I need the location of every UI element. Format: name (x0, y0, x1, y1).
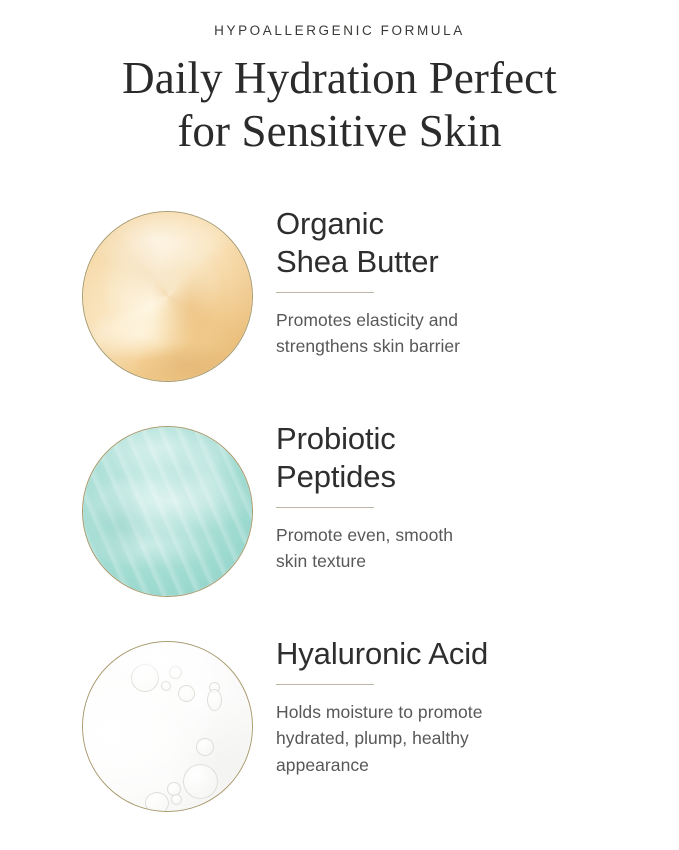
hyaluronic-swatch-wrapper (82, 641, 253, 812)
ingredient-desc-line-2: strengthens skin barrier (276, 333, 656, 360)
header: HYPOALLERGENIC FORMULA Daily Hydration P… (0, 24, 679, 158)
ingredient-desc-line-2: hydrated, plump, healthy (276, 725, 656, 752)
ingredient-desc-line-1: Holds moisture to promote (276, 699, 656, 726)
page-title: Daily Hydration Perfect for Sensitive Sk… (0, 52, 679, 158)
hyaluronic-text-block: Hyaluronic Acid Holds moisture to promot… (276, 635, 656, 779)
ingredient-title-probiotic-peptides: Probiotic Peptides (276, 420, 656, 496)
ingredient-row-organic-shea-butter: Organic Shea Butter Promotes elasticity … (0, 205, 679, 420)
ingredient-desc-line-2: skin texture (276, 548, 656, 575)
page-title-line-1: Daily Hydration Perfect (0, 52, 679, 105)
hyaluronic-gel-swatch (82, 641, 253, 812)
ingredient-title-line-1: Hyaluronic Acid (276, 635, 656, 673)
ingredient-desc-line-1: Promote even, smooth (276, 522, 656, 549)
swatch-gloss (83, 642, 252, 811)
ingredient-row-probiotic-peptides: Probiotic Peptides Promote even, smooth … (0, 420, 679, 635)
page-title-line-2: for Sensitive Skin (0, 105, 679, 158)
probiotic-swatch-wrapper (82, 426, 253, 597)
ingredient-title-hyaluronic-acid: Hyaluronic Acid (276, 635, 656, 673)
shea-butter-cream-swatch (82, 211, 253, 382)
eyebrow-text: HYPOALLERGENIC FORMULA (0, 24, 679, 38)
title-divider (276, 684, 374, 685)
title-divider (276, 507, 374, 508)
ingredient-row-hyaluronic-acid: Hyaluronic Acid Holds moisture to promot… (0, 635, 679, 850)
ingredient-description-hyaluronic-acid: Holds moisture to promote hydrated, plum… (276, 699, 656, 779)
ingredient-title-line-2: Shea Butter (276, 243, 656, 281)
ingredient-title-organic-shea-butter: Organic Shea Butter (276, 205, 656, 281)
title-divider (276, 292, 374, 293)
swatch-gloss (83, 212, 252, 381)
product-ingredient-infographic: HYPOALLERGENIC FORMULA Daily Hydration P… (0, 0, 679, 849)
ingredient-title-line-1: Probiotic (276, 420, 656, 458)
ingredient-desc-line-3: appearance (276, 752, 656, 779)
ingredient-description-organic-shea-butter: Promotes elasticity and strengthens skin… (276, 307, 656, 360)
ingredient-desc-line-1: Promotes elasticity and (276, 307, 656, 334)
shea-butter-text-block: Organic Shea Butter Promotes elasticity … (276, 205, 656, 360)
shea-butter-swatch-wrapper (82, 211, 253, 382)
ingredient-title-line-1: Organic (276, 205, 656, 243)
probiotic-gel-swatch (82, 426, 253, 597)
ingredient-title-line-2: Peptides (276, 458, 656, 496)
ingredient-description-probiotic-peptides: Promote even, smooth skin texture (276, 522, 656, 575)
probiotic-text-block: Probiotic Peptides Promote even, smooth … (276, 420, 656, 575)
swatch-gloss (83, 427, 252, 596)
ingredient-list: Organic Shea Butter Promotes elasticity … (0, 205, 679, 850)
